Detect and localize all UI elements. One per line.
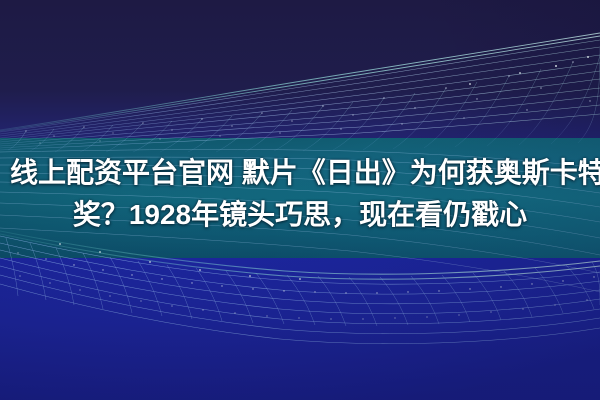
- headline-line-1: 线上配资平台官网 默片《日出》为何获奥斯卡特殊: [8, 152, 592, 194]
- headline-line-2: 奖？1928年镜头巧思，现在看仍戳心: [8, 194, 592, 236]
- banner-headline: 线上配资平台官网 默片《日出》为何获奥斯卡特殊 奖？1928年镜头巧思，现在看仍…: [0, 152, 600, 236]
- article-banner: 线上配资平台官网 默片《日出》为何获奥斯卡特殊 奖？1928年镜头巧思，现在看仍…: [0, 0, 600, 400]
